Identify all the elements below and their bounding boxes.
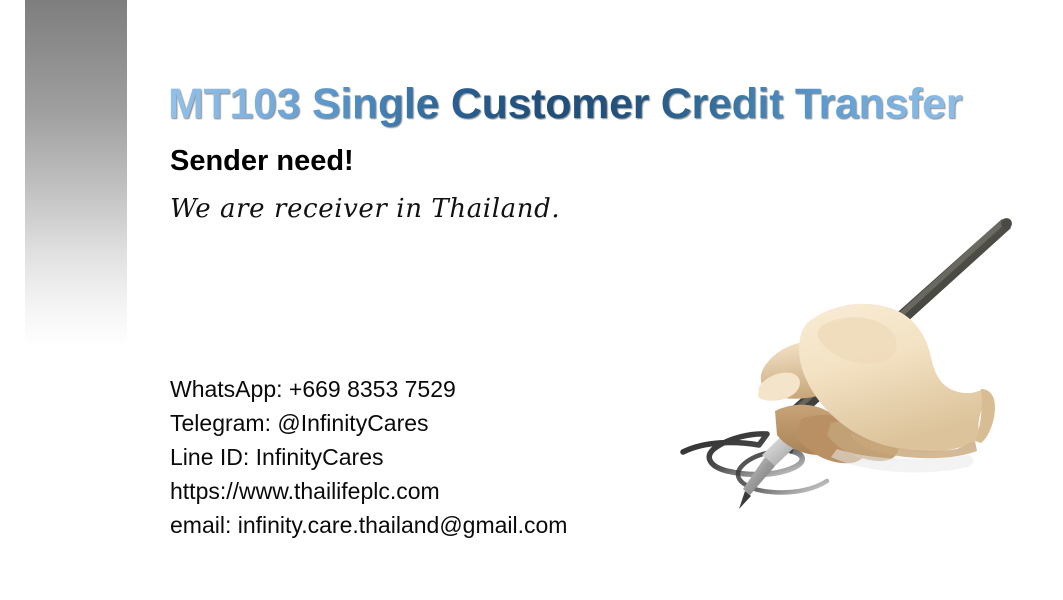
contact-line-website[interactable]: https://www.thailifeplc.com xyxy=(170,474,567,508)
headline-text: Sender need! xyxy=(170,144,354,178)
contact-line-telegram: Telegram: @InfinityCares xyxy=(170,406,567,440)
pen-cap-end xyxy=(1001,218,1012,229)
slide-canvas: MT103 Single Customer Credit Transfer Se… xyxy=(0,0,1063,600)
contact-info-block: WhatsApp: +669 8353 7529 Telegram: @Infi… xyxy=(170,372,567,542)
contact-line-whatsapp: WhatsApp: +669 8353 7529 xyxy=(170,372,567,406)
contact-line-email[interactable]: email: infinity.care.thailand@gmail.com xyxy=(170,508,567,542)
hand-writing-with-pen-illustration xyxy=(655,205,1015,530)
contact-line-lineid: Line ID: InfinityCares xyxy=(170,440,567,474)
left-gradient-bar xyxy=(25,0,127,347)
page-title: MT103 Single Customer Credit Transfer xyxy=(168,78,1008,130)
script-subtitle-text: We are receiver in Thailand. xyxy=(170,192,560,226)
